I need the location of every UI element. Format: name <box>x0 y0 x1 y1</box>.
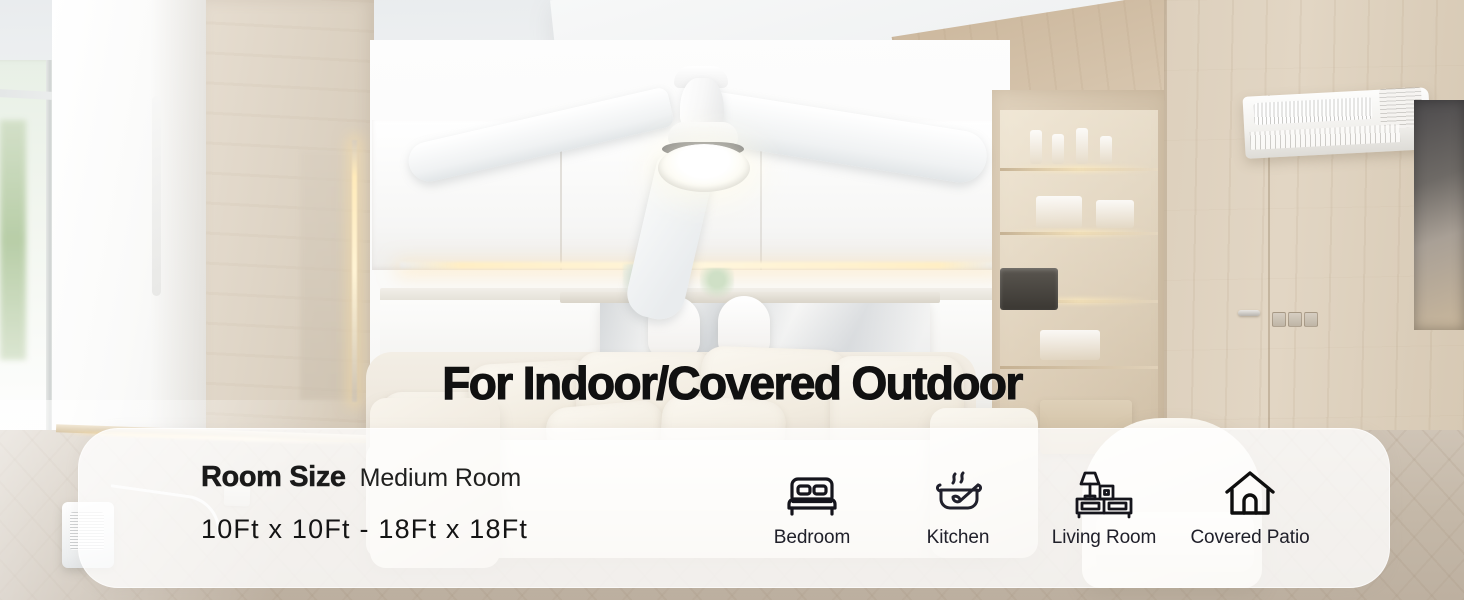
use-case-icon-row: Bedroom K <box>739 467 1323 549</box>
use-case-label: Living Room <box>1052 527 1157 549</box>
product-feature-banner: For Indoor/Covered Outdoor Room Size Med… <box>0 0 1464 600</box>
light-switch <box>1288 312 1302 327</box>
dishware-stack <box>1096 200 1134 228</box>
use-case-label: Covered Patio <box>1190 527 1309 549</box>
room-size-panel: Room Size Medium Room 10Ft x 10Ft - 18Ft… <box>78 428 1390 588</box>
ceiling-fan <box>596 38 896 258</box>
cabinet-shelf-glow <box>1004 230 1154 236</box>
dishware-stack <box>1036 196 1082 228</box>
door-handle <box>1238 310 1260 316</box>
glassware <box>1030 130 1042 164</box>
room-size-title: Room Size <box>201 461 346 494</box>
bed-icon <box>785 467 839 521</box>
use-case-label: Bedroom <box>774 527 850 549</box>
room-size-block: Room Size Medium Room 10Ft x 10Ft - 18Ft… <box>201 461 528 545</box>
light-switch <box>1304 312 1318 327</box>
sideboard-lamp-icon <box>1073 467 1135 521</box>
page-title: For Indoor/Covered Outdoor <box>0 356 1464 410</box>
window-foliage <box>0 120 26 360</box>
use-case-bedroom: Bedroom <box>739 467 885 549</box>
fan-led-light <box>658 144 750 192</box>
light-switch <box>1272 312 1286 327</box>
use-case-kitchen: Kitchen <box>885 467 1031 549</box>
use-case-living-room: Living Room <box>1031 467 1177 549</box>
use-case-label: Kitchen <box>927 527 990 549</box>
glassware <box>1076 128 1088 164</box>
potted-plant <box>700 268 734 302</box>
room-size-dimensions: 10Ft x 10Ft - 18Ft x 18Ft <box>201 514 528 545</box>
house-icon <box>1223 467 1277 521</box>
glassware <box>1100 136 1112 164</box>
pendant-tube-light <box>152 96 161 296</box>
cabinet-shelf-glow <box>1004 166 1154 172</box>
use-case-covered-patio: Covered Patio <box>1177 467 1323 549</box>
cooking-pot-icon <box>931 467 985 521</box>
room-size-subtitle: Medium Room <box>360 464 521 493</box>
wall-artwork <box>1414 100 1464 330</box>
light-switch-panel <box>1272 312 1318 327</box>
glassware <box>1052 134 1064 164</box>
built-in-oven <box>1000 268 1058 310</box>
